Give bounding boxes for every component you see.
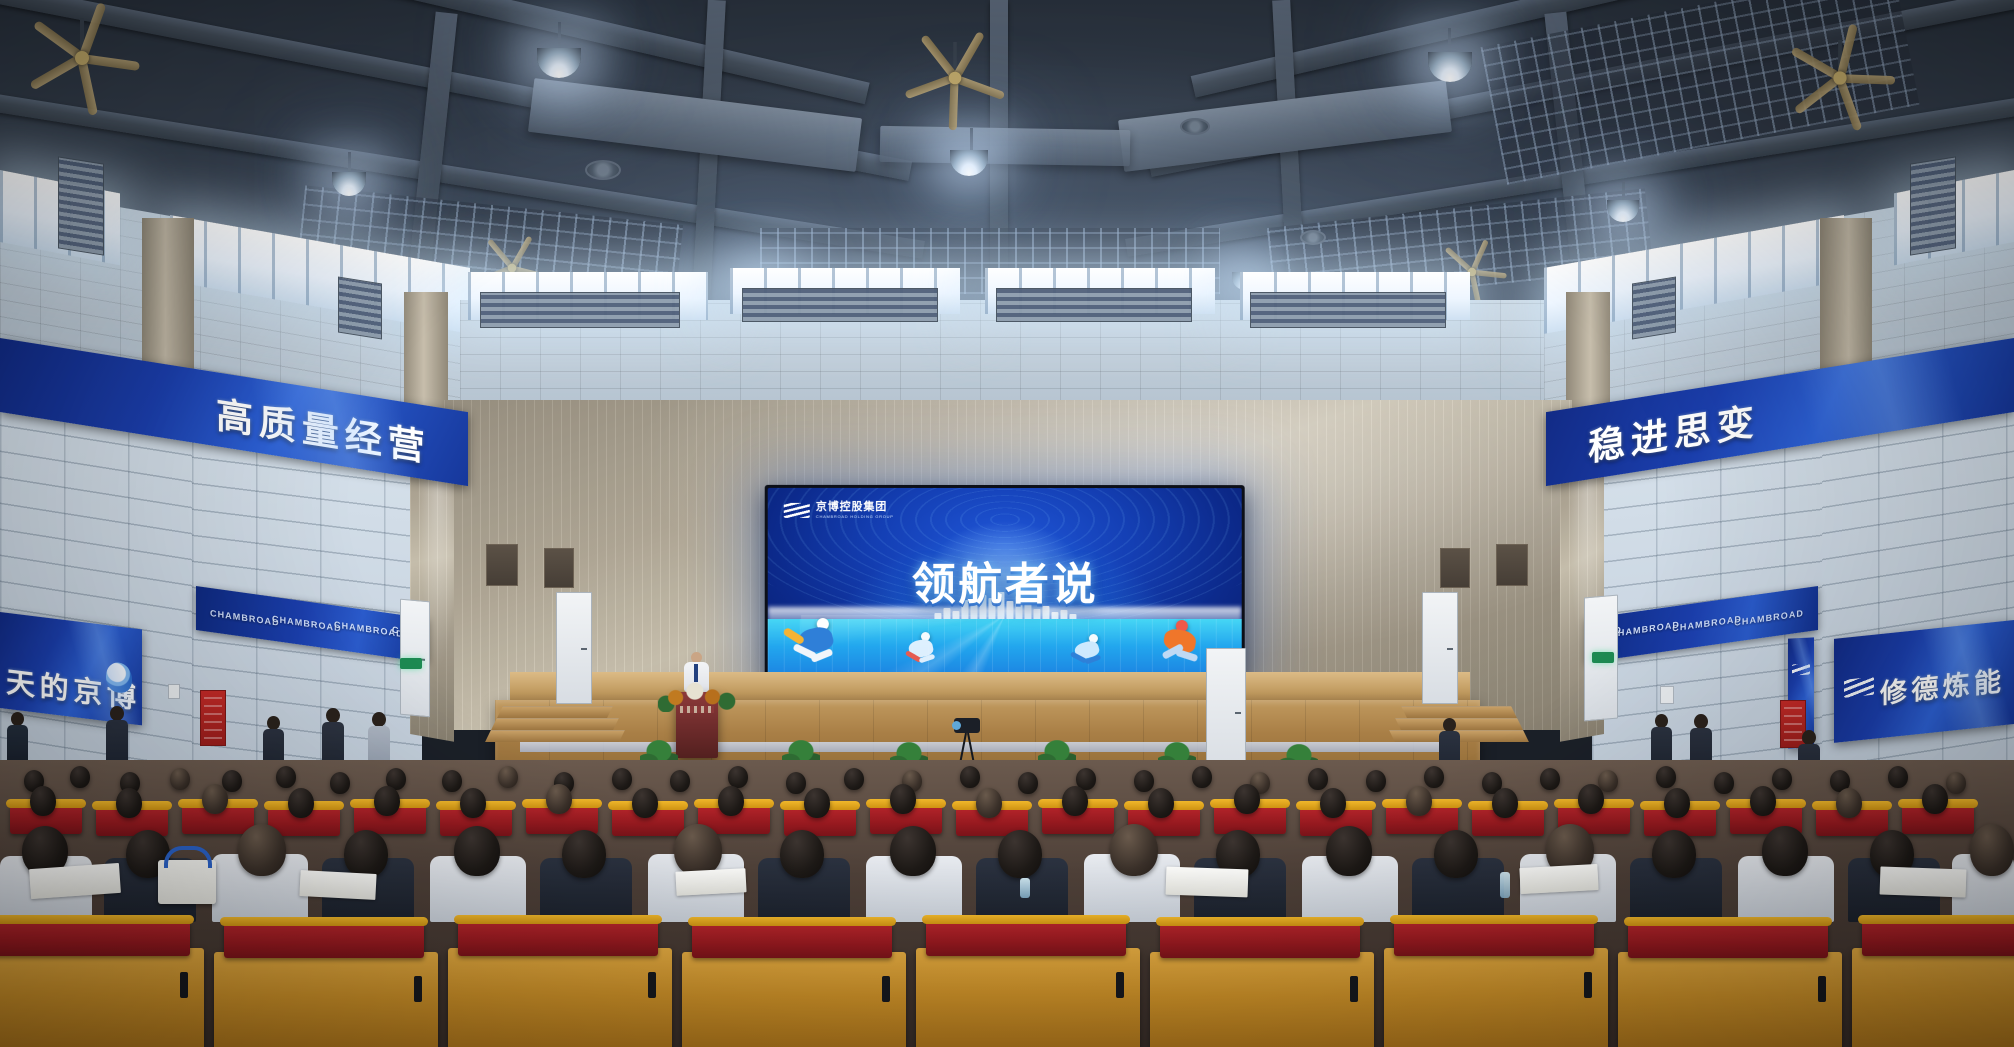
banner-lower-right-text: 修德炼能 综 bbox=[1880, 654, 2014, 711]
fan-blade bbox=[1794, 71, 1847, 115]
hvac-duct bbox=[1118, 80, 1452, 172]
sponsor-word: CHAMBROAD bbox=[1672, 614, 1742, 634]
wall-louver-vent bbox=[742, 288, 938, 322]
hvac-duct bbox=[880, 126, 1131, 166]
fan-blade bbox=[76, 2, 106, 65]
ceiling-beam bbox=[0, 0, 870, 104]
runner-blue-figure bbox=[787, 618, 847, 676]
sponsor-word: CHAMBROAD bbox=[1734, 608, 1804, 628]
ceiling-beam bbox=[1191, 0, 2014, 98]
runner-orange-figure bbox=[1152, 620, 1208, 676]
tote-bag bbox=[158, 860, 216, 904]
pendant-light bbox=[1428, 52, 1472, 82]
fan-blade bbox=[1468, 239, 1489, 276]
ceiling-truss bbox=[1481, 0, 1920, 185]
wall-louver-vent bbox=[58, 156, 104, 255]
light-rod bbox=[970, 128, 973, 152]
staff-head bbox=[1655, 714, 1668, 728]
fan-hub bbox=[949, 72, 962, 85]
podium-flower-arrangement bbox=[658, 676, 738, 712]
notebook bbox=[1880, 867, 1967, 898]
sponsor-word: CHAMBROAD bbox=[210, 608, 280, 628]
wall-louver-vent bbox=[480, 292, 680, 328]
fan-blade bbox=[1790, 46, 1847, 84]
wall-panel bbox=[1440, 548, 1470, 588]
wall-louver-vent bbox=[996, 288, 1192, 322]
led-content: 领航者说 京博控股集团 CHAMBROAD HOLDING GROUP bbox=[768, 488, 1242, 680]
wall-louver-vent bbox=[338, 277, 382, 340]
wall-louver-vent bbox=[1910, 156, 1956, 255]
stage-step bbox=[485, 730, 625, 742]
light-rod bbox=[558, 22, 561, 50]
fan-blade bbox=[75, 53, 140, 71]
wall-louver-vent bbox=[1632, 277, 1676, 340]
light-rod bbox=[1448, 28, 1451, 54]
staff-head bbox=[1443, 718, 1456, 732]
staff-head bbox=[1802, 730, 1816, 745]
pendant-light bbox=[1607, 200, 1639, 222]
exit-sign bbox=[1592, 652, 1614, 663]
side-door-left[interactable] bbox=[556, 592, 592, 704]
stage-step bbox=[1401, 706, 1517, 718]
runner-white-figure bbox=[901, 632, 941, 676]
ceiling-vent bbox=[1180, 118, 1210, 135]
light-rod bbox=[1622, 182, 1625, 202]
staff-head bbox=[267, 716, 280, 730]
side-door-right[interactable] bbox=[1422, 592, 1458, 704]
hvac-duct bbox=[528, 78, 862, 172]
mascot-icon bbox=[106, 661, 132, 694]
wall-louver-vent bbox=[1250, 292, 1446, 328]
flag-logo-icon bbox=[784, 503, 810, 518]
logo-name-en: CHAMBROAD HOLDING GROUP bbox=[816, 515, 894, 519]
fan-blade bbox=[1834, 71, 1863, 131]
fan-rod bbox=[1838, 40, 1842, 78]
audience-seating-area bbox=[0, 760, 2014, 1047]
fan-blade bbox=[949, 72, 959, 130]
staff-head bbox=[372, 712, 386, 727]
fan-blade bbox=[508, 236, 533, 273]
staff-head bbox=[326, 708, 340, 723]
fan-blade bbox=[33, 20, 90, 65]
pendant-light bbox=[950, 150, 988, 176]
ceiling-vent bbox=[585, 160, 621, 180]
wall-panel bbox=[486, 544, 518, 586]
notebook bbox=[299, 870, 376, 900]
fan-rod bbox=[80, 18, 84, 58]
fan-blade bbox=[920, 34, 962, 84]
staff-head bbox=[11, 712, 24, 726]
wall-control-box[interactable] bbox=[168, 684, 180, 699]
fan-hub bbox=[1833, 71, 1846, 84]
fan-blade bbox=[904, 72, 961, 99]
fan-blade bbox=[1834, 74, 1895, 85]
fan-blade bbox=[948, 73, 1005, 100]
fan-rod bbox=[953, 42, 957, 78]
pendant-light bbox=[332, 172, 366, 196]
flag-logo-icon bbox=[1792, 664, 1810, 676]
notebook bbox=[1166, 867, 1249, 898]
fire-safety-notice bbox=[200, 690, 226, 746]
auditorium-scene: 高质量经营 稳进思变 CHAMBROAD CHAMBROAD CHAMBROAD… bbox=[0, 0, 2014, 1047]
wall-panel bbox=[544, 548, 574, 588]
wall-control-box[interactable] bbox=[1660, 686, 1674, 704]
fan-blade bbox=[29, 51, 89, 91]
led-main-title: 领航者说 bbox=[768, 547, 1242, 611]
wall-panel bbox=[1496, 544, 1528, 586]
banner-lower-right: 修德炼能 综 bbox=[1834, 620, 2014, 743]
fan-blade bbox=[1468, 269, 1507, 278]
light-rod bbox=[348, 152, 351, 174]
notebook bbox=[675, 868, 746, 896]
camera-lens-icon bbox=[952, 721, 961, 730]
pendant-light bbox=[537, 48, 581, 78]
stage-step bbox=[491, 718, 619, 730]
water-bottle bbox=[1020, 878, 1030, 898]
runner-teal-figure bbox=[1067, 634, 1107, 676]
fan-blade bbox=[1835, 24, 1858, 85]
ceiling-beam bbox=[990, 0, 1008, 300]
notebook bbox=[1519, 864, 1598, 894]
exit-sign bbox=[400, 658, 422, 669]
stage-step bbox=[497, 706, 613, 718]
ceiling-beam bbox=[1148, 0, 2014, 177]
staff-head bbox=[1694, 714, 1708, 729]
led-video-wall: 领航者说 京博控股集团 CHAMBROAD HOLDING GROUP bbox=[765, 485, 1245, 683]
water-bottle bbox=[1500, 872, 1510, 898]
sponsor-word: CHAMBROAD bbox=[272, 614, 342, 634]
flag-logo-icon bbox=[1844, 677, 1874, 698]
ceiling-beam bbox=[1272, 0, 1306, 300]
ceiling-vent bbox=[1300, 230, 1326, 245]
ceiling-beam bbox=[0, 0, 912, 181]
logo-name-cn: 京博控股集团 bbox=[816, 502, 894, 513]
fan-blade bbox=[949, 31, 985, 85]
notebook bbox=[29, 863, 121, 899]
chambroad-logo: 京博控股集团 CHAMBROAD HOLDING GROUP bbox=[784, 502, 894, 519]
fan-blade bbox=[487, 238, 517, 272]
rear-door-right[interactable] bbox=[1206, 648, 1246, 776]
staff-head bbox=[110, 706, 124, 721]
fan-blade bbox=[76, 51, 98, 115]
ceiling-beam bbox=[692, 0, 726, 300]
led-light-rays bbox=[801, 615, 1209, 680]
fan-hub bbox=[75, 51, 89, 65]
